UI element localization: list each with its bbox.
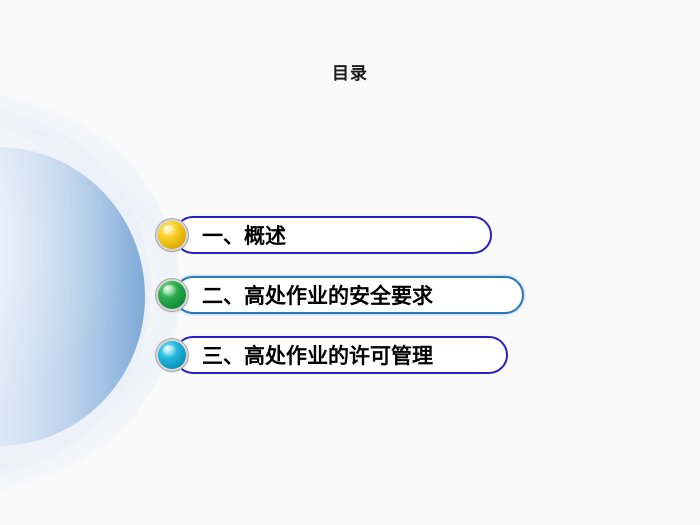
bullet-sphere-icon bbox=[158, 341, 186, 369]
toc-label-1: 一、概述 bbox=[202, 225, 286, 246]
table-of-contents: 一、概述 二、高处作业的安全要求 三、高处作业的许可管理 bbox=[0, 0, 700, 525]
toc-entry-1[interactable]: 一、概述 bbox=[158, 215, 492, 255]
bullet-sphere-icon bbox=[158, 221, 186, 249]
toc-label-3: 三、高处作业的许可管理 bbox=[202, 345, 433, 366]
presentation-slide: 目录 一、概述 二、高处作业的安全要求 三、高处作业的许可管理 bbox=[0, 0, 700, 525]
toc-pill-1[interactable]: 一、概述 bbox=[174, 216, 492, 254]
toc-entry-2[interactable]: 二、高处作业的安全要求 bbox=[158, 275, 524, 315]
toc-pill-2[interactable]: 二、高处作业的安全要求 bbox=[174, 276, 524, 314]
toc-label-2: 二、高处作业的安全要求 bbox=[202, 285, 433, 306]
bullet-sphere-icon bbox=[158, 281, 186, 309]
toc-pill-3[interactable]: 三、高处作业的许可管理 bbox=[174, 336, 508, 374]
toc-entry-3[interactable]: 三、高处作业的许可管理 bbox=[158, 335, 508, 375]
